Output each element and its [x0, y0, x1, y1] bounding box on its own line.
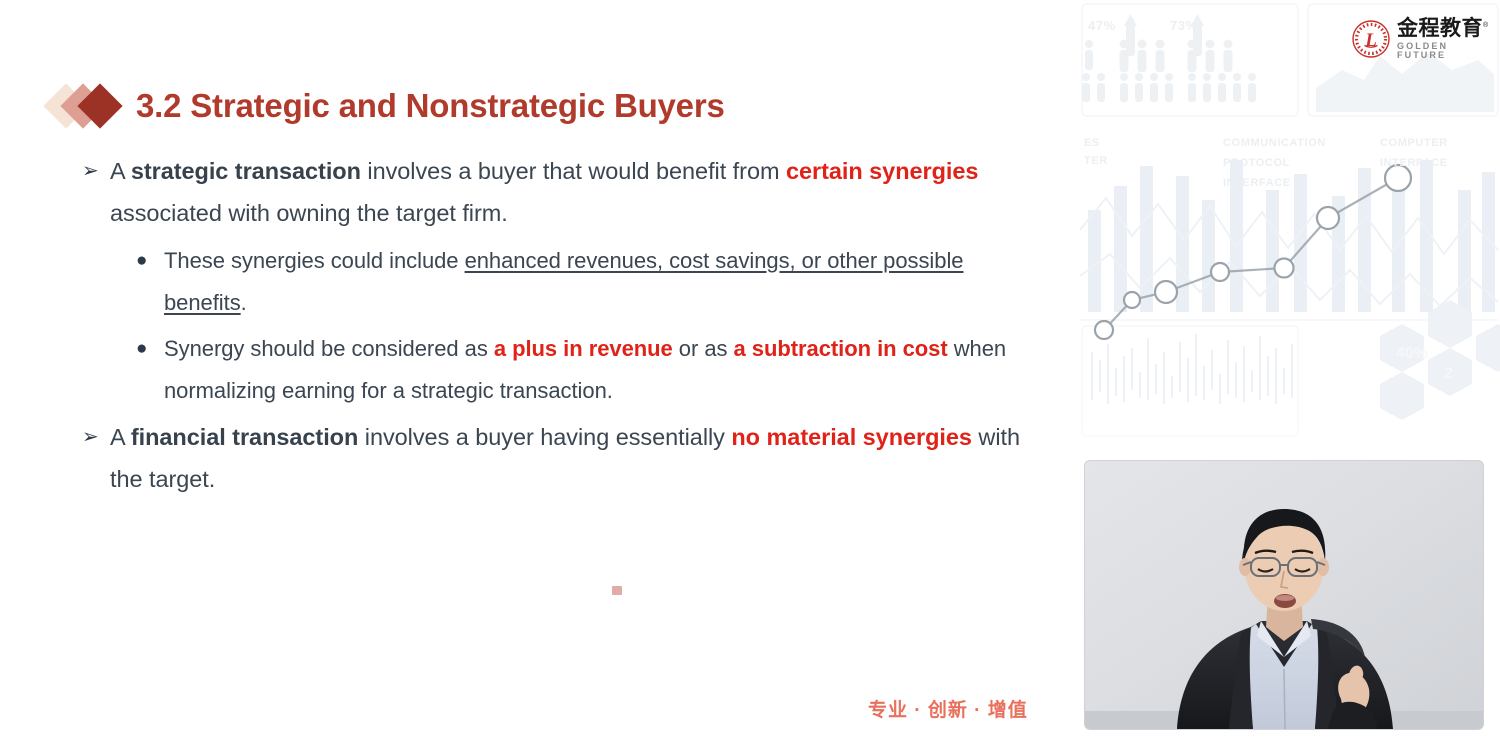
text-run: associated with owning the target firm. [110, 200, 508, 226]
background-bars [1088, 160, 1495, 312]
text-run: certain synergies [786, 158, 978, 184]
bullet-text: A strategic transaction involves a buyer… [110, 150, 1038, 234]
text-run: or as [673, 336, 734, 361]
brand-logo: L 金程教育® GOLDEN FUTURE [1352, 18, 1500, 60]
page-title: 3.2 Strategic and Nonstrategic Buyers [136, 87, 725, 125]
svg-text:40%: 40% [1396, 345, 1428, 362]
text-run: Synergy should be considered as [164, 336, 494, 361]
text-run: a plus in revenue [494, 336, 673, 361]
background-infographic: 40% 2 ES TER COMMUNICATI [1080, 0, 1500, 460]
text-run: a subtraction in cost [734, 336, 948, 361]
slide-title-row: 3.2 Strategic and Nonstrategic Buyers [50, 78, 725, 134]
arrow-bullet-icon: ➢ [78, 150, 110, 192]
bullet-text: These synergies could include enhanced r… [164, 240, 1038, 324]
text-run: A [110, 158, 131, 184]
text-run: involves a buyer having essentially [358, 424, 731, 450]
infographic-svg: 40% 2 [1080, 0, 1500, 460]
bullet-text: Synergy should be considered as a plus i… [164, 328, 1038, 412]
bullet-text: A financial transaction involves a buyer… [110, 416, 1038, 500]
bullet-level-2: ●Synergy should be considered as a plus … [136, 328, 1038, 412]
candlestick-chart [1092, 334, 1292, 404]
brand-tagline: 专业 · 创新 · 增值 [868, 695, 1028, 722]
logo-text: 金程教育® GOLDEN FUTURE [1397, 18, 1500, 60]
bullet-level-1: ➢A strategic transaction involves a buye… [78, 150, 1038, 234]
dot-bullet-icon: ● [136, 240, 164, 282]
bullet-level-1: ➢A financial transaction involves a buye… [78, 416, 1038, 500]
sub-bullet-group: ●These synergies could include enhanced … [136, 240, 1038, 412]
arrow-bullet-icon: ➢ [78, 416, 110, 458]
bg-label: PROTOCOL [1223, 157, 1290, 169]
bg-label: 73% [1170, 18, 1198, 33]
text-run: These synergies could include [164, 248, 465, 273]
right-panel: 40% 2 ES TER COMMUNICATI [1080, 0, 1500, 750]
bg-label: COMMUNICATION [1223, 137, 1326, 149]
logo-english-name: GOLDEN FUTURE [1397, 42, 1500, 60]
dot-bullet-icon: ● [136, 328, 164, 370]
seal-icon: L [1352, 20, 1390, 58]
bg-label: INTERFACE [1223, 177, 1291, 189]
text-run: no material synergies [731, 424, 972, 450]
text-run: strategic transaction [131, 158, 361, 184]
bg-label: TER [1084, 155, 1108, 167]
slide-screenshot: 3.2 Strategic and Nonstrategic Buyers ➢A… [0, 0, 1500, 750]
diamond-decoration-icon [50, 80, 126, 132]
text-run: . [241, 290, 247, 315]
presentation-slide: 3.2 Strategic and Nonstrategic Buyers ➢A… [0, 0, 1080, 750]
presenter-video[interactable] [1085, 461, 1483, 729]
text-run: financial transaction [131, 424, 358, 450]
text-run: A [110, 424, 131, 450]
bg-label: 47% [1088, 18, 1116, 33]
svg-text:2: 2 [1444, 365, 1453, 382]
text-run: involves a buyer that would benefit from [361, 158, 786, 184]
cursor-artifact-mark [612, 586, 622, 595]
bg-label: ES [1084, 137, 1100, 149]
bg-label: INTERFACE [1380, 157, 1448, 169]
bullet-level-2: ●These synergies could include enhanced … [136, 240, 1038, 324]
logo-chinese-name: 金程教育® [1397, 18, 1500, 39]
slide-body: ➢A strategic transaction involves a buye… [78, 150, 1038, 506]
bg-label: COMPUTER [1380, 137, 1448, 149]
